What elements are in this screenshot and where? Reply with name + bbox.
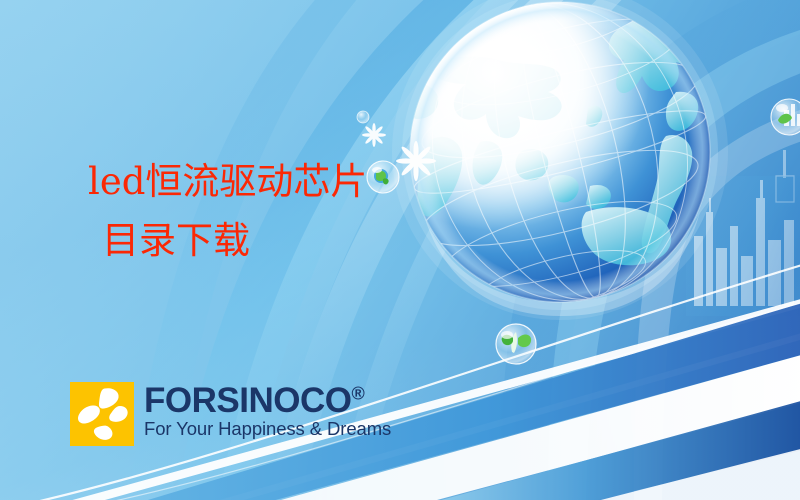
bubble-globe-icon [367, 161, 399, 193]
registered-trademark-icon: ® [351, 383, 364, 403]
logo-tagline: For Your Happiness & Dreams [144, 418, 391, 440]
headline-text: led恒流驱动芯片 目录下载 [88, 163, 367, 259]
company-logo: FORSINOCO® For Your Happiness & Dreams [70, 382, 391, 446]
logo-wordmark-text: FORSINOCO [144, 381, 351, 420]
logo-text-block: FORSINOCO® For Your Happiness & Dreams [144, 382, 391, 440]
promotional-banner: led恒流驱动芯片 目录下载 FORSINOCO® For Your Happi… [0, 0, 800, 500]
headline-line-2: 目录下载 [102, 222, 367, 259]
white-flower-small [362, 123, 386, 147]
forsinoco-pinwheel-mark [70, 382, 134, 446]
headline-line-1: led恒流驱动芯片 [88, 163, 367, 200]
bubble-small-plain [357, 111, 369, 123]
pinwheel-petals-icon [70, 382, 134, 446]
logo-wordmark: FORSINOCO® [144, 383, 391, 419]
white-flower-large [396, 141, 436, 181]
bubble-sprout-icon [496, 324, 536, 364]
